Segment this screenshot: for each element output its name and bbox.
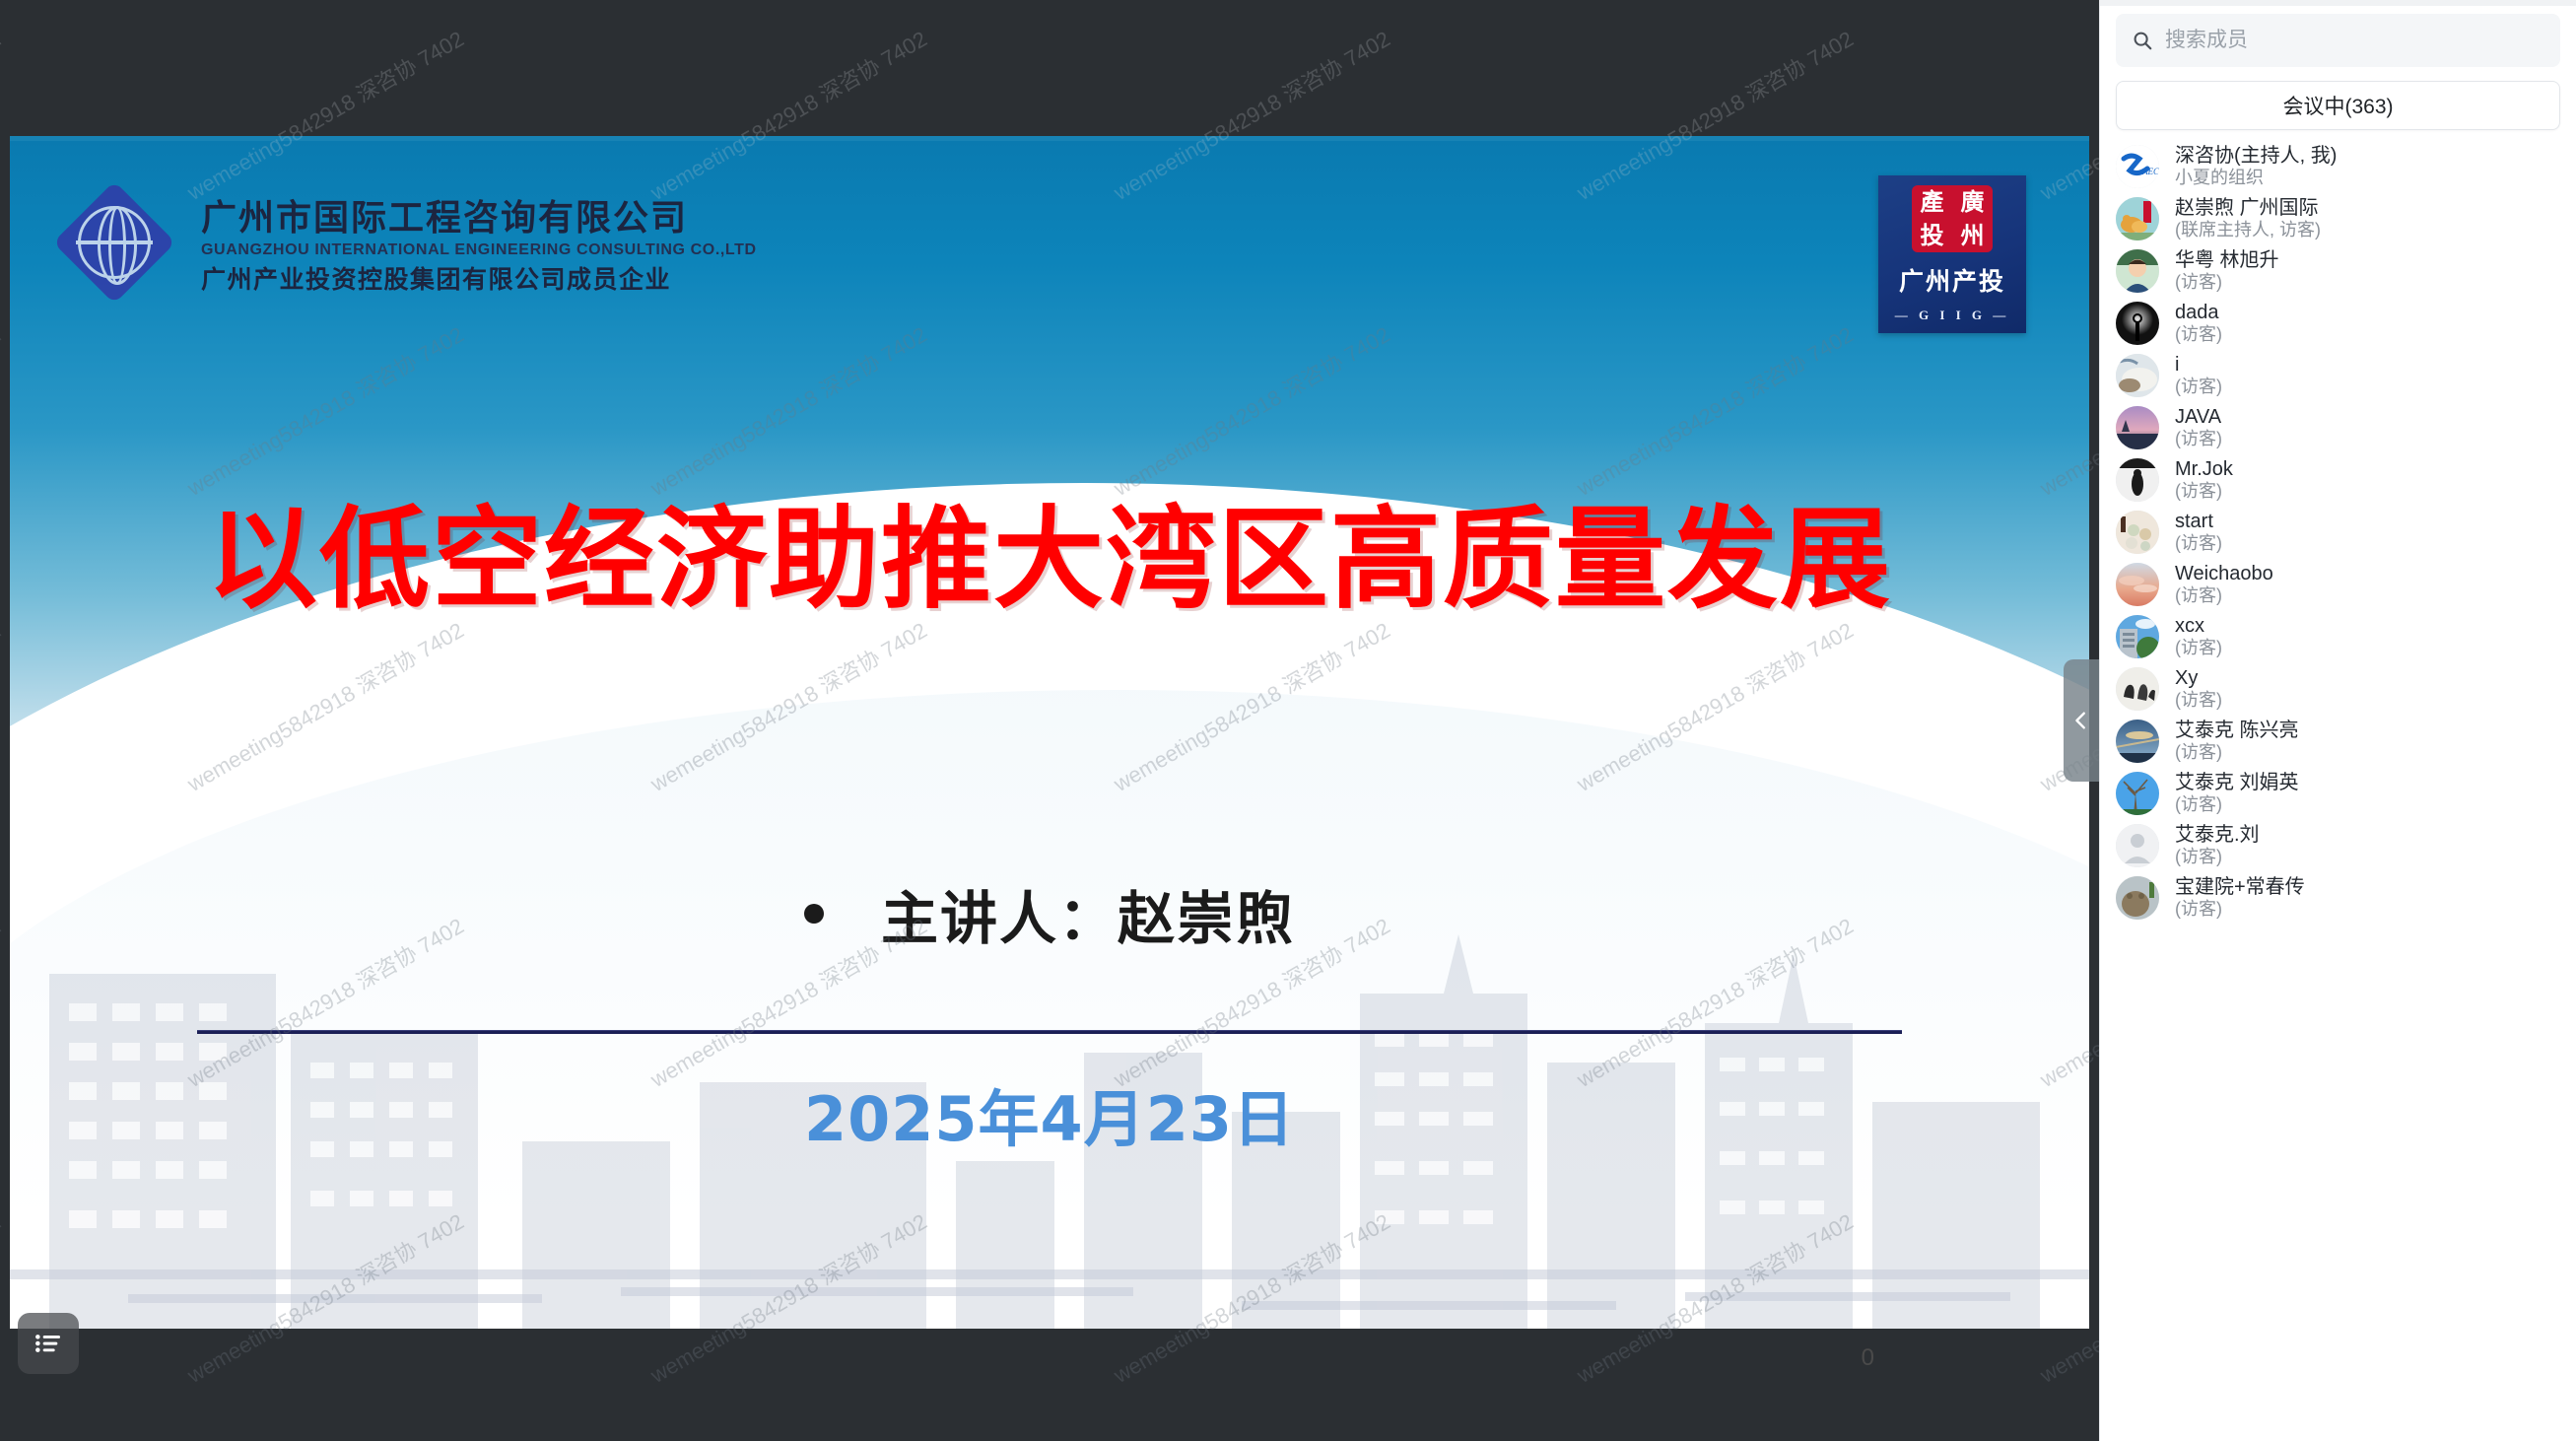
- participant-role: (访客): [2175, 638, 2222, 659]
- avatar: [2116, 197, 2159, 240]
- list-outline-icon: [33, 1328, 64, 1359]
- avatar: [2116, 563, 2159, 606]
- giig-seal-icon: 產 廣 投 州: [1912, 185, 1993, 252]
- participant-list[interactable]: AEC深咨协(主持人, 我)小夏的组织赵崇煦 广州国际(联席主持人, 访客) 华…: [2100, 140, 2576, 1441]
- company-name-en: GUANGZHOU INTERNATIONAL ENGINEERING CONS…: [201, 241, 757, 259]
- participant-tabs: 会议中(363): [2116, 81, 2560, 130]
- slide-divider: [197, 1030, 1902, 1034]
- avatar: AEC: [2116, 145, 2159, 188]
- participant-role: (访客): [2175, 429, 2222, 450]
- giig-name-cn: 广州产投: [1899, 262, 2005, 298]
- participant-name: Xy: [2175, 666, 2222, 690]
- avatar: [2116, 249, 2159, 293]
- company-name-cn: 广州市国际工程咨询有限公司: [201, 189, 757, 240]
- seal-char-1: 廣: [1961, 190, 1985, 214]
- participant-row[interactable]: xcx(访客): [2100, 610, 2576, 662]
- participant-name: Weichaobo: [2175, 562, 2273, 585]
- slide-company-header: 广州市国际工程咨询有限公司 GUANGZHOU INTERNATIONAL EN…: [49, 189, 757, 296]
- stage-top-letterbox: [0, 0, 2099, 138]
- avatar: [2116, 458, 2159, 502]
- avatar: [2116, 354, 2159, 397]
- avatar: [2116, 876, 2159, 920]
- chevron-left-icon: [2070, 710, 2092, 731]
- participant-role: (访客): [2175, 847, 2260, 868]
- participant-role: (访客): [2175, 324, 2222, 346]
- participant-role: (访客): [2175, 585, 2273, 607]
- participant-name: xcx: [2175, 614, 2222, 638]
- participant-name: 艾泰克.刘: [2175, 823, 2260, 847]
- slide-speaker-line: 主讲人：赵崇煦: [10, 872, 2089, 955]
- participant-row[interactable]: start(访客): [2100, 506, 2576, 558]
- bullet-icon: [804, 904, 824, 924]
- shared-screen-stage: 广州市国际工程咨询有限公司 GUANGZHOU INTERNATIONAL EN…: [0, 0, 2099, 1441]
- avatar: [2116, 772, 2159, 815]
- giig-name-en: — G I I G —: [1895, 308, 2010, 323]
- avatar: [2116, 511, 2159, 554]
- participant-role: (访客): [2175, 533, 2222, 555]
- participant-role: (访客): [2175, 742, 2299, 764]
- watermark-text: wemeeting5842918 深咨协 7402: [0, 1204, 6, 1389]
- watermark-text: wemeeting5842918 深咨协 7402: [0, 317, 6, 502]
- slide-top-accent-bar: [10, 136, 2089, 141]
- participant-role: (访客): [2175, 690, 2222, 712]
- participant-name: start: [2175, 510, 2222, 533]
- avatar: [2116, 720, 2159, 763]
- tab-in-meeting[interactable]: 会议中(363): [2116, 81, 2560, 130]
- participant-row[interactable]: Xy(访客): [2100, 662, 2576, 715]
- participant-name: 华粤 林旭升: [2175, 248, 2279, 272]
- avatar: [2116, 615, 2159, 658]
- page-indicator: 0: [1862, 1344, 1874, 1372]
- participant-role: (访客): [2175, 794, 2299, 816]
- slide-date: 2025年4月23日: [10, 1069, 2089, 1158]
- participant-role: (访客): [2175, 377, 2222, 398]
- participant-row[interactable]: 华粤 林旭升(访客): [2100, 244, 2576, 297]
- participant-row[interactable]: 赵崇煦 广州国际(联席主持人, 访客): [2100, 192, 2576, 244]
- outline-toggle-button[interactable]: [18, 1313, 79, 1374]
- slide-main-title: 以低空经济助推大湾区高质量发展: [10, 503, 2089, 619]
- avatar: [2116, 667, 2159, 711]
- meeting-screen-share-window: 广州市国际工程咨询有限公司 GUANGZHOU INTERNATIONAL EN…: [0, 0, 2576, 1441]
- participant-row[interactable]: JAVA(访客): [2100, 401, 2576, 453]
- participant-row[interactable]: 宝建院+常春传(访客): [2100, 871, 2576, 924]
- panel-top-strip: [2100, 0, 2576, 6]
- search-input[interactable]: [2165, 29, 2544, 52]
- participant-name: Mr.Jok: [2175, 457, 2233, 481]
- avatar: [2116, 302, 2159, 345]
- participant-role: (访客): [2175, 899, 2305, 921]
- participant-row[interactable]: i(访客): [2100, 349, 2576, 401]
- participants-panel: 会议中(363) AEC深咨协(主持人, 我)小夏的组织赵崇煦 广州国际(联席主…: [2099, 0, 2576, 1441]
- watermark-text: wemeeting5842918 深咨协 7402: [0, 909, 6, 1093]
- seal-char-0: 產: [1921, 190, 1944, 214]
- avatar: [2116, 824, 2159, 867]
- participant-row[interactable]: Mr.Jok(访客): [2100, 453, 2576, 506]
- participant-name: i: [2175, 353, 2222, 377]
- participant-row[interactable]: 艾泰克 刘娟英(访客): [2100, 767, 2576, 819]
- collapse-panel-button[interactable]: [2064, 659, 2099, 782]
- participant-role: (访客): [2175, 481, 2233, 503]
- participant-name: 艾泰克 刘娟英: [2175, 771, 2299, 794]
- participant-role: (访客): [2175, 272, 2279, 294]
- seal-char-3: 州: [1961, 224, 1985, 247]
- participant-name: 赵崇煦 广州国际: [2175, 196, 2321, 220]
- participant-name: 深咨协(主持人, 我): [2175, 144, 2337, 168]
- svg-text:AEC: AEC: [2141, 167, 2159, 176]
- participant-row[interactable]: AEC深咨协(主持人, 我)小夏的组织: [2100, 140, 2576, 192]
- speaker-text: 主讲人：赵崇煦: [881, 872, 1295, 955]
- watermark-text: wemeeting5842918 深咨协 7402: [0, 613, 6, 797]
- participant-row[interactable]: dada(访客): [2100, 297, 2576, 349]
- presentation-slide: 广州市国际工程咨询有限公司 GUANGZHOU INTERNATIONAL EN…: [10, 138, 2089, 1329]
- giec-logo-icon: [49, 193, 179, 292]
- participant-role: 小夏的组织: [2175, 168, 2337, 189]
- company-member-line: 广州产业投资控股集团有限公司成员企业: [201, 260, 757, 296]
- participant-row[interactable]: 艾泰克.刘(访客): [2100, 819, 2576, 871]
- seal-char-2: 投: [1921, 224, 1944, 247]
- avatar: [2116, 406, 2159, 449]
- search-icon: [2132, 30, 2153, 51]
- participant-name: dada: [2175, 301, 2222, 324]
- participant-name: 宝建院+常春传: [2175, 875, 2305, 899]
- participant-name: 艾泰克 陈兴亮: [2175, 719, 2299, 742]
- participant-name: JAVA: [2175, 405, 2222, 429]
- participant-role: (联席主持人, 访客): [2175, 220, 2321, 241]
- participant-row[interactable]: Weichaobo(访客): [2100, 558, 2576, 610]
- participant-row[interactable]: 艾泰克 陈兴亮(访客): [2100, 715, 2576, 767]
- giig-logo-badge: 產 廣 投 州 广州产投 — G I I G —: [1878, 175, 2026, 333]
- search-members-box[interactable]: [2116, 14, 2560, 67]
